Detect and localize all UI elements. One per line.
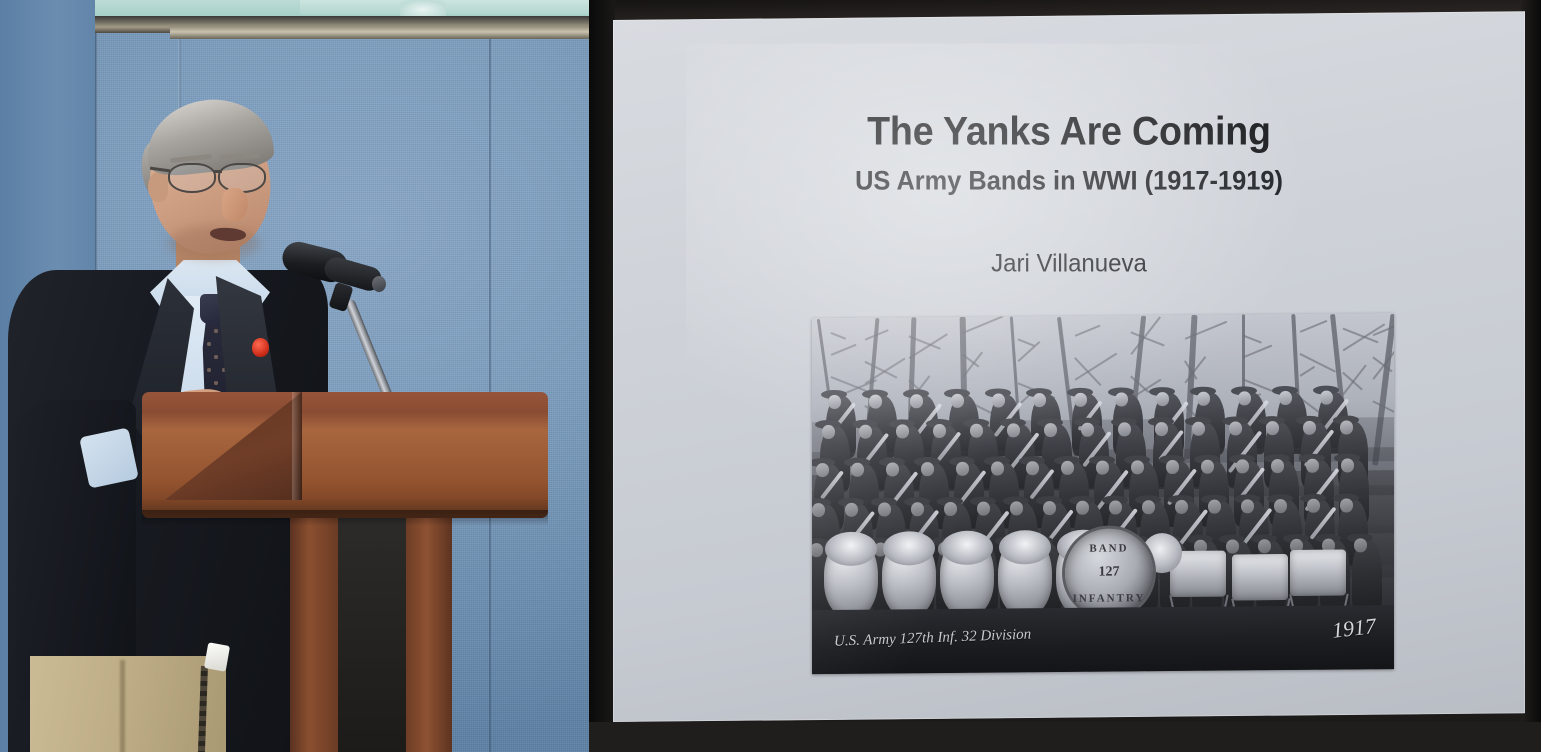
eyeglasses-lens-right [218,163,266,193]
wall-panel-seam-3 [489,28,491,752]
ceiling-metal-track-inner [170,26,589,39]
photo-handwritten-year: 1917 [1331,613,1377,644]
drum-infantry-text: INFANTRY [1065,592,1153,605]
bass-drum: BAND 127 INFANTRY [1065,528,1153,617]
historical-band-photograph: BAND 127 INFANTRY U.S. Army 127th Inf. 3… [812,313,1394,674]
slide-author: Jari Villanueva [631,250,1507,279]
slide-subtitle: US Army Bands in WWI (1917-1919) [640,166,1497,197]
projection-screen-panel: The Yanks Are Coming US Army Bands in WW… [589,0,1541,752]
podium-leg-left [290,516,338,752]
screenshot-root: The Yanks Are Coming US Army Bands in WW… [0,0,1541,752]
slide-content: The Yanks Are Coming US Army Bands in WW… [613,16,1525,718]
projector-screen-icon: The Yanks Are Coming US Army Bands in WW… [613,11,1525,722]
glass-reflection [400,0,446,16]
name-badge [204,642,230,671]
ear [148,172,168,202]
eyeglasses-bridge [214,170,222,173]
speaker-photo-panel [0,0,589,752]
slide-title: The Yanks Are Coming [640,110,1497,155]
podium-shadow [142,510,548,526]
screen-frame-bottom [589,722,1541,752]
shirt-cuff [79,427,139,488]
screen-frame-left [589,0,615,752]
podium-center-panel [338,516,406,752]
podium-leg-right [406,516,452,752]
drum-band-text: BAND [1065,542,1153,555]
eyeglasses-lens-left [168,163,216,193]
trouser-crease [120,660,125,752]
microphone-tip [372,276,386,292]
trousers [30,656,226,752]
red-lapel-pin [252,338,269,357]
drum-number-text: 127 [1099,564,1120,580]
